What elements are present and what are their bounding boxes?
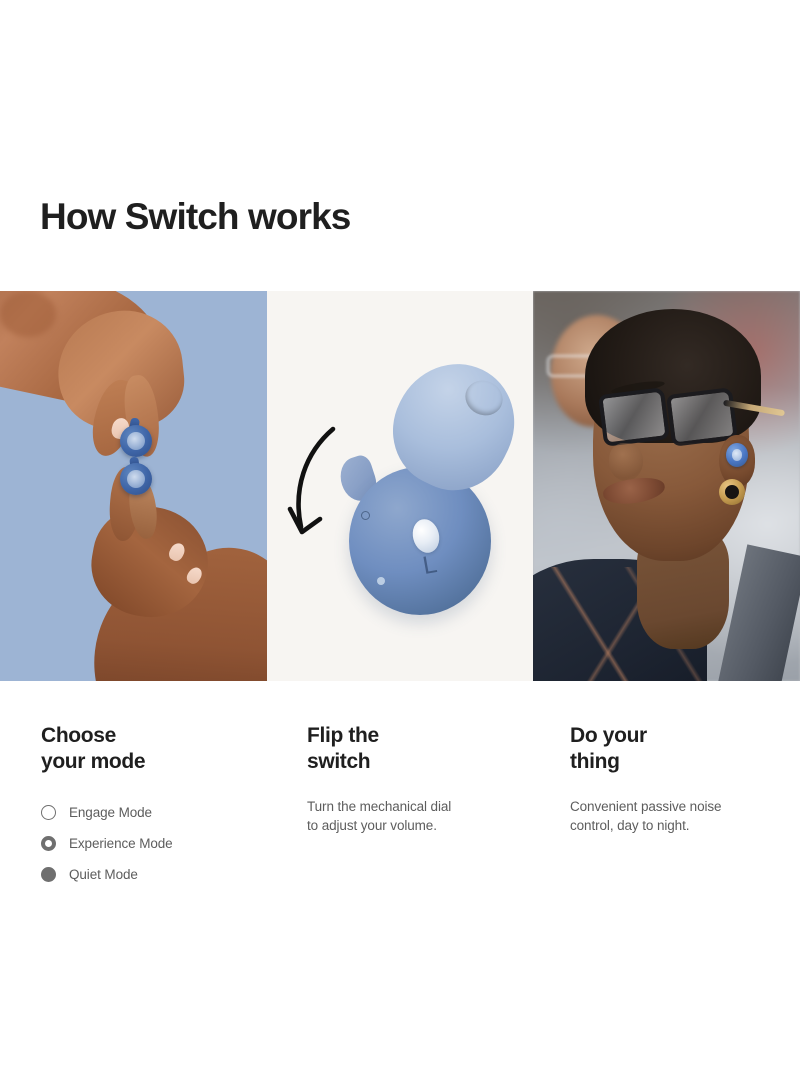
radio-selected-icon[interactable] [41, 836, 56, 851]
radio-filled-icon[interactable] [41, 867, 56, 882]
panel-woman-wearing-earbud [533, 291, 800, 681]
feature-column-do-your-thing: Do your thing Convenient passive noise c… [570, 723, 780, 836]
column-body-text: Convenient passive noise control, day to… [570, 797, 780, 836]
feature-column-flip-the-switch: Flip the switch Turn the mechanical dial… [307, 723, 542, 836]
mode-option-label: Quiet Mode [69, 867, 138, 882]
glasses-left-lens [598, 387, 670, 447]
woman-earring [719, 479, 745, 505]
earbud-dot-marking [377, 577, 385, 585]
upper-hand-knuckle-shadow [0, 291, 56, 337]
mode-option-label: Engage Mode [69, 805, 152, 820]
earbud-product-image: L [319, 359, 509, 619]
mode-option-label: Experience Mode [69, 836, 173, 851]
panel-earbud-flip-switch: L [267, 291, 533, 681]
earbud-circle-marking [361, 511, 370, 520]
worn-earbud [726, 443, 748, 467]
panel-strip: L [0, 291, 800, 681]
page-title: How Switch works [40, 197, 350, 238]
woman-glasses [595, 391, 743, 447]
mode-option-experience[interactable]: Experience Mode [41, 828, 281, 859]
feature-column-choose-your-mode: Choose your mode Engage Mode Experience … [41, 723, 281, 890]
mode-option-engage[interactable]: Engage Mode [41, 797, 281, 828]
product-feature-page: How Switch works [0, 0, 800, 1091]
lower-earbud [120, 463, 152, 495]
column-body-text: Turn the mechanical dial to adjust your … [307, 797, 542, 836]
column-heading: Choose your mode [41, 723, 281, 775]
column-heading: Do your thing [570, 723, 780, 775]
panel-hands-passing-earbud [0, 291, 267, 681]
upper-earbud [120, 425, 152, 457]
radio-unselected-icon[interactable] [41, 805, 56, 820]
mode-option-quiet[interactable]: Quiet Mode [41, 859, 281, 890]
mode-option-list[interactable]: Engage Mode Experience Mode Quiet Mode [41, 797, 281, 890]
woman-nose [609, 443, 643, 481]
column-heading: Flip the switch [307, 723, 542, 775]
